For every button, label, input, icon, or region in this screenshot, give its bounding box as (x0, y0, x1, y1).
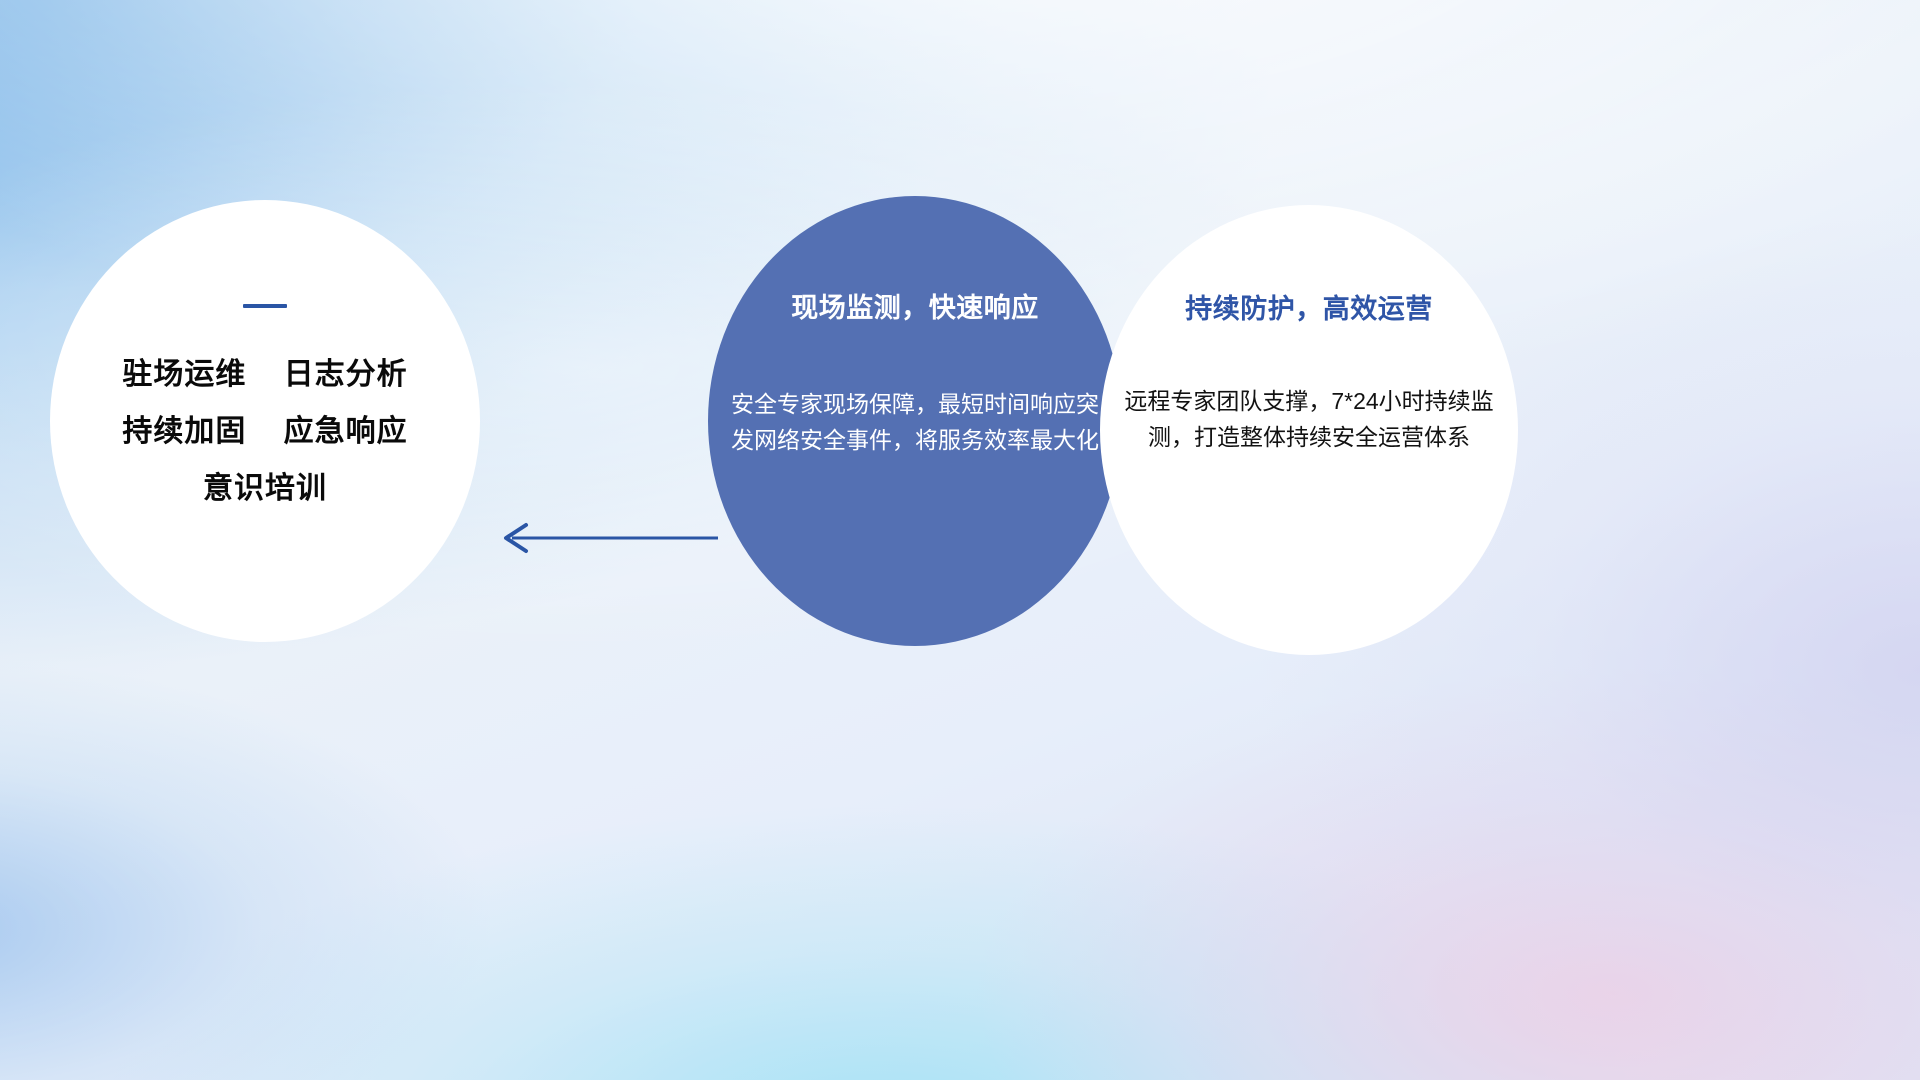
continuous-protection-content: 持续防护，高效运营 远程专家团队支撑，7*24小时持续监测，打造整体持续安全运营… (1100, 295, 1518, 456)
continuous-protection-circle: 持续防护，高效运营 远程专家团队支撑，7*24小时持续监测，打造整体持续安全运营… (1100, 205, 1518, 655)
continuous-protection-title: 持续防护，高效运营 (1100, 295, 1518, 325)
onsite-monitoring-title: 现场监测，快速响应 (708, 294, 1122, 324)
flow-arrow-left-icon (490, 518, 720, 558)
divider-dash (243, 304, 287, 308)
service-capabilities-content: 驻场运维 日志分析 持续加固 应急响应 意识培训 (50, 304, 480, 504)
capability-line-1: 驻场运维 日志分析 (50, 360, 480, 390)
flow-arrow-left (490, 518, 720, 558)
service-capabilities-circle: 驻场运维 日志分析 持续加固 应急响应 意识培训 (50, 200, 480, 642)
onsite-monitoring-circle: 现场监测，快速响应 安全专家现场保障，最短时间响应突发网络安全事件，将服务效率最… (708, 196, 1122, 646)
slide-canvas: 驻场运维 日志分析 持续加固 应急响应 意识培训 现场监测，快速响应 安全专家现… (0, 0, 1920, 1080)
capability-line-3: 意识培训 (50, 474, 480, 504)
onsite-monitoring-content: 现场监测，快速响应 安全专家现场保障，最短时间响应突发网络安全事件，将服务效率最… (708, 294, 1122, 459)
continuous-protection-body: 远程专家团队支撑，7*24小时持续监测，打造整体持续安全运营体系 (1100, 383, 1518, 457)
capability-line-2: 持续加固 应急响应 (50, 417, 480, 447)
onsite-monitoring-body: 安全专家现场保障，最短时间响应突发网络安全事件，将服务效率最大化 (708, 386, 1122, 460)
